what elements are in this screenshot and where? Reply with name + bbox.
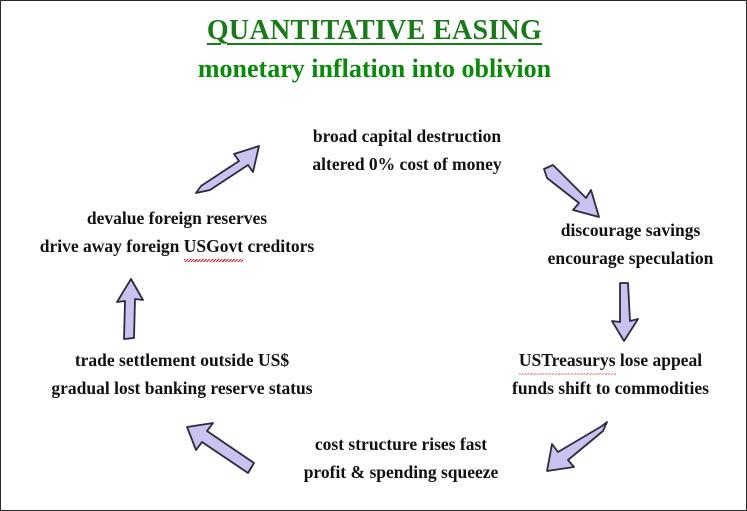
- node-cost-structure-rises-fast: cost structure rises fast profit & spend…: [282, 430, 520, 487]
- node-line-2-suffix: creditors: [243, 236, 314, 256]
- node-line-1: USTreasurys lose appeal: [488, 346, 733, 374]
- misspelled-word: USTreasurys: [519, 346, 616, 374]
- arrow-down-icon: [609, 281, 641, 343]
- node-line-2: profit & spending squeeze: [282, 458, 520, 486]
- node-line-2-prefix: drive away foreign: [40, 236, 184, 256]
- node-line-2: drive away foreign USGovt creditors: [15, 232, 339, 260]
- arrow-down-right-icon: [541, 163, 609, 221]
- arrow-up-right-icon: [193, 143, 263, 197]
- node-trade-settlement-outside-usd: trade settlement outside US$ gradual los…: [23, 346, 341, 403]
- diagram-canvas: QUANTITATIVE EASING monetary inflation i…: [0, 0, 747, 511]
- node-line-2: funds shift to commodities: [488, 374, 733, 402]
- arrow-up-left-icon: [184, 421, 260, 477]
- node-line-2: gradual lost banking reserve status: [23, 374, 341, 402]
- arrow-up-icon: [113, 277, 145, 341]
- node-line-1: broad capital destruction: [291, 122, 523, 150]
- node-line-2: encourage speculation: [528, 244, 733, 272]
- node-line-1: cost structure rises fast: [282, 430, 520, 458]
- node-line-1: trade settlement outside US$: [23, 346, 341, 374]
- page-subtitle: monetary inflation into oblivion: [1, 53, 747, 84]
- node-ustreasurys-lose-appeal: USTreasurys lose appeal funds shift to c…: [488, 346, 733, 403]
- node-line-1-rest: lose appeal: [616, 350, 703, 370]
- arrow-down-left-icon: [541, 419, 611, 475]
- node-discourage-savings: discourage savings encourage speculation: [528, 216, 733, 273]
- node-devalue-foreign-reserves: devalue foreign reserves drive away fore…: [15, 204, 339, 261]
- page-title: QUANTITATIVE EASING: [1, 15, 747, 47]
- title-block: QUANTITATIVE EASING monetary inflation i…: [1, 15, 747, 85]
- node-line-2: altered 0% cost of money: [291, 150, 523, 178]
- node-line-1: devalue foreign reserves: [15, 204, 339, 232]
- misspelled-word: USGovt: [184, 232, 243, 260]
- node-broad-capital-destruction: broad capital destruction altered 0% cos…: [291, 122, 523, 179]
